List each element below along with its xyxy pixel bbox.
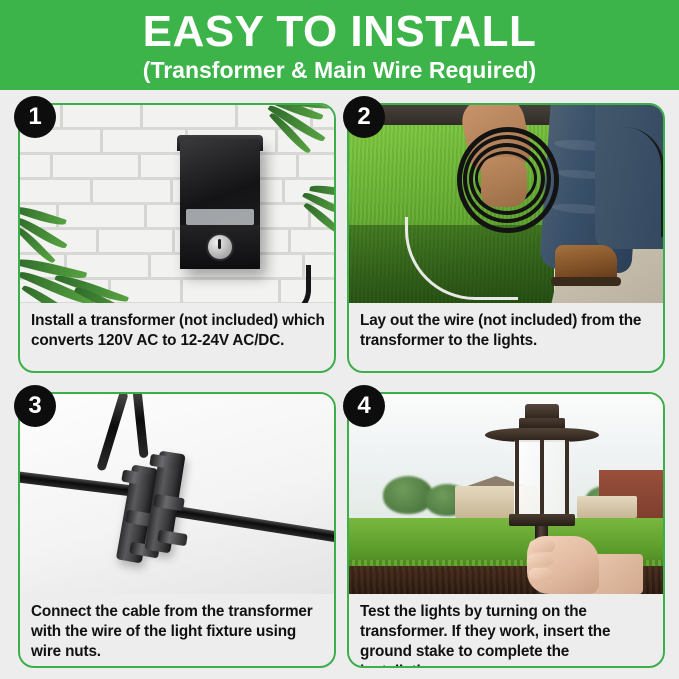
step-panel-3: Connect the cable from the transformer w… xyxy=(18,392,336,668)
light-cage-bar xyxy=(565,440,569,516)
transformer-window xyxy=(186,209,254,225)
finger xyxy=(527,554,553,566)
step-badge-4: 4 xyxy=(343,385,385,427)
step-1-photo xyxy=(20,105,334,303)
brick-seam-row xyxy=(20,230,334,255)
step-badge-3: 3 xyxy=(14,385,56,427)
step-2-photo xyxy=(349,105,663,303)
person-hand xyxy=(481,157,527,207)
transformer-timer-dial xyxy=(206,233,234,261)
step-panel-1: Install a transformer (not included) whi… xyxy=(18,103,336,373)
transformer-power-cord xyxy=(248,265,311,303)
boot-sole xyxy=(551,277,621,286)
step-1-caption: Install a transformer (not included) whi… xyxy=(20,303,334,357)
step-3-photo xyxy=(20,394,334,594)
wire-trailing-right xyxy=(617,127,663,237)
finger xyxy=(529,540,555,552)
step-2-caption: Lay out the wire (not included) from the… xyxy=(349,303,663,357)
step-badge-1: 1 xyxy=(14,96,56,138)
brick-seam-row xyxy=(20,155,334,180)
step-4-caption: Test the lights by turning on the transf… xyxy=(349,594,663,668)
step-3-caption: Connect the cable from the transformer w… xyxy=(20,594,334,668)
brick-seam-row xyxy=(20,180,334,205)
step-panel-2: Lay out the wire (not included) from the… xyxy=(347,103,665,373)
step-panel-4: Test the lights by turning on the transf… xyxy=(347,392,665,668)
page-title: EASY TO INSTALL xyxy=(143,9,537,55)
light-base-ring xyxy=(509,514,575,526)
finger xyxy=(529,568,553,580)
step-badge-2: 2 xyxy=(343,96,385,138)
light-cage-bar xyxy=(540,440,544,516)
page-subtitle: (Transformer & Main Wire Required) xyxy=(143,56,536,84)
header-banner: EASY TO INSTALL (Transformer & Main Wire… xyxy=(0,0,679,90)
install-instructions-page: EASY TO INSTALL (Transformer & Main Wire… xyxy=(0,0,679,679)
light-cage-bar xyxy=(515,440,519,516)
brick-seam-row xyxy=(20,205,334,230)
step-4-photo xyxy=(349,394,663,594)
background-house xyxy=(577,496,637,518)
brick-seam-row xyxy=(20,105,334,130)
